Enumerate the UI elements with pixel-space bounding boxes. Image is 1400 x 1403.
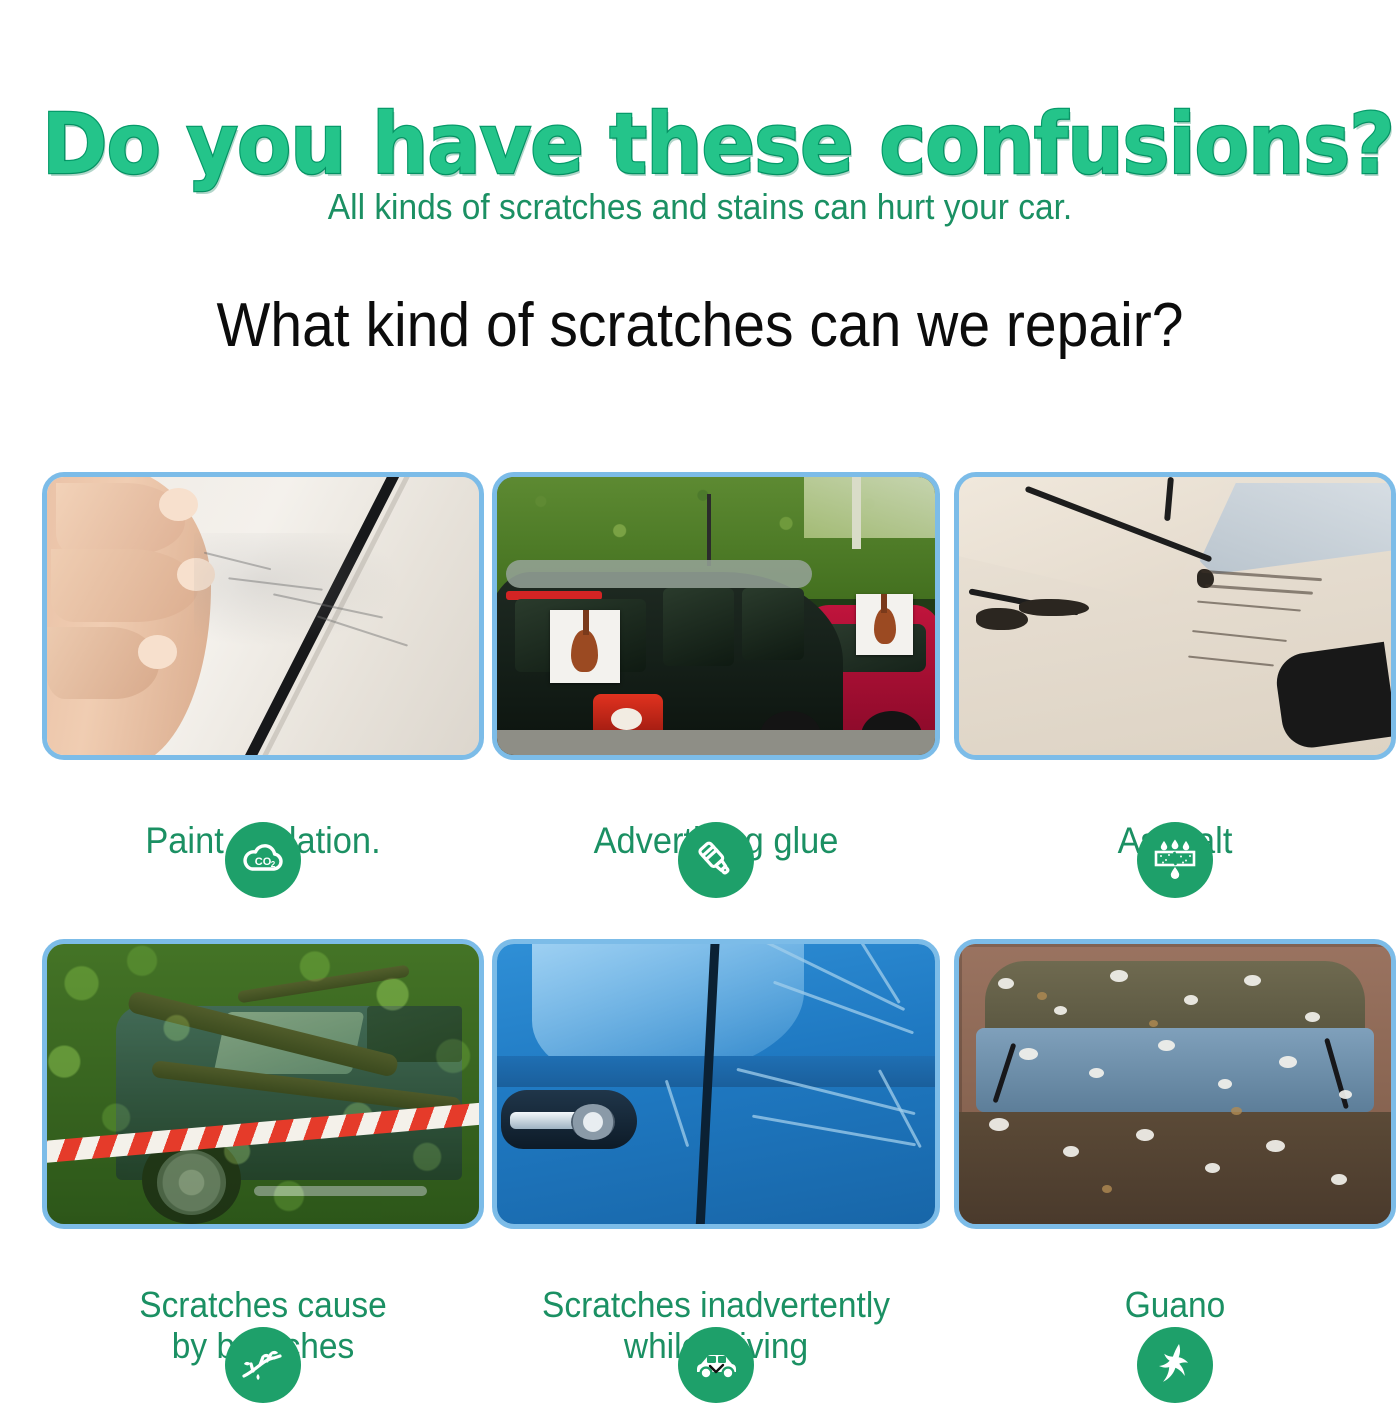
scratched-car-icon xyxy=(678,1327,754,1403)
grid-cell-branch-scratches[interactable]: Blue car crushed under a fallen tree beh… xyxy=(42,939,484,1366)
photo-paint-oxidation: Hand touching oxidized white car paint p… xyxy=(42,472,484,760)
section-question: What kind of scratches can we repair? xyxy=(56,290,1344,361)
photo-asphalt: Beige car bumper stained with black asph… xyxy=(954,472,1396,760)
grid-row-2: Blue car crushed under a fallen tree beh… xyxy=(0,939,1400,1366)
photo-driving-scratches: Blue car door panel with long scratches xyxy=(492,939,940,1229)
grid-cell-advertising-glue[interactable]: Parked cars with advertising flyers tape… xyxy=(492,472,940,861)
grid-row-1: Hand touching oxidized white car paint p… xyxy=(0,472,1400,861)
photo-art-hand-on-panel xyxy=(47,477,479,755)
page-subtitle: All kinds of scratches and stains can hu… xyxy=(49,186,1351,228)
svg-text:2: 2 xyxy=(271,860,276,869)
photo-art-guano-covered-car xyxy=(959,944,1391,1224)
photo-art-tree-on-car xyxy=(47,944,479,1224)
photo-guano: Car roof and windshield covered in bird … xyxy=(954,939,1396,1229)
grid-cell-guano[interactable]: Car roof and windshield covered in bird … xyxy=(954,939,1396,1366)
asphalt-layer-icon xyxy=(1137,822,1213,898)
flying-bird-icon xyxy=(1137,1327,1213,1403)
grid-cell-asphalt[interactable]: Beige car bumper stained with black asph… xyxy=(954,472,1396,861)
grid-cell-paint-oxidation[interactable]: Hand touching oxidized white car paint p… xyxy=(42,472,484,861)
scratch-type-grid: Hand touching oxidized white car paint p… xyxy=(0,472,1400,1366)
glue-tube-icon xyxy=(678,822,754,898)
promo-page: Do you have these confusions? All kinds … xyxy=(0,0,1400,1400)
photo-branch-scratches: Blue car crushed under a fallen tree beh… xyxy=(42,939,484,1229)
photo-advertising-glue: Parked cars with advertising flyers tape… xyxy=(492,472,940,760)
photo-art-tar-stained-bumper xyxy=(959,477,1391,755)
tree-branch-icon xyxy=(225,1327,301,1403)
caption-guano: Guano xyxy=(969,1285,1380,1325)
co2-cloud-icon: CO 2 xyxy=(225,822,301,898)
photo-art-blue-door-scratches xyxy=(497,944,935,1224)
page-title: Do you have these confusions? xyxy=(42,100,1358,189)
svg-text:CO: CO xyxy=(255,856,272,868)
grid-cell-driving-scratches[interactable]: Blue car door panel with long scratches … xyxy=(492,939,940,1366)
photo-art-cars-with-flyers xyxy=(497,477,935,755)
